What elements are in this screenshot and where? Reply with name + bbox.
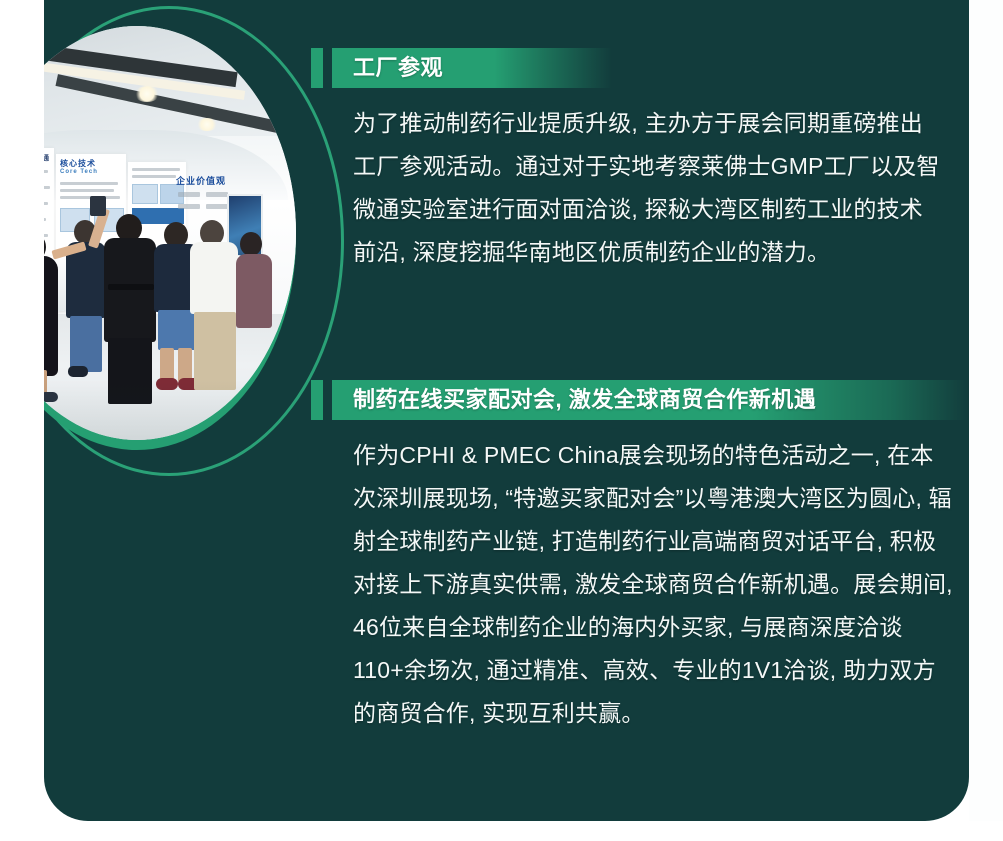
photo-bottom-shade [0,380,296,440]
section-body-1: 为了推动制药行业提质升级, 主办方于展会同期重磅推出工厂参观活动。通过对于实地考… [353,102,941,274]
booth-photo: 企业简介 智微通 核心技术 Core Tech [0,26,296,440]
section-buyer-matchmaking: 制药在线买家配对会, 激发全球商贸合作新机遇 作为CPHI & PMEC Chi… [311,380,969,735]
section-heading-2-text: 制药在线买家配对会, 激发全球商贸合作新机遇 [353,380,816,420]
page-root: 企业简介 智微通 核心技术 Core Tech [0,0,1003,841]
photo-downlight [196,118,218,131]
section-heading-1-text: 工厂参观 [353,48,443,88]
photo-assembly: 企业简介 智微通 核心技术 Core Tech [0,14,360,454]
right-margin [969,0,1003,841]
accent-tick [311,48,323,88]
photo-person-head [240,232,262,256]
section-body-2: 作为CPHI & PMEC China展会现场的特色活动之一, 在本次深圳展现场… [353,434,953,735]
photo-board-title-values: 企业价值观 [176,174,226,187]
accent-tick [311,380,323,420]
bottom-margin [0,821,1003,841]
section-factory-visit: 工厂参观 为了推动制药行业提质升级, 主办方于展会同期重磅推出工厂参观活动。通过… [311,48,951,274]
photo-board-title-core-tech: 核心技术 [60,158,96,169]
photo-downlight [134,86,160,102]
section-heading-1: 工厂参观 [311,48,951,88]
photo-person-body [190,242,238,314]
photo-circle-mask: 企业简介 智微通 核心技术 Core Tech [0,26,296,440]
photo-person-body [236,254,272,328]
photo-person-body [104,238,156,342]
left-margin [0,0,44,841]
section-heading-2: 制药在线买家配对会, 激发全球商贸合作新机遇 [311,380,969,420]
text-content: 工厂参观 为了推动制药行业提质升级, 主办方于展会同期重磅推出工厂参观活动。通过… [311,0,969,821]
